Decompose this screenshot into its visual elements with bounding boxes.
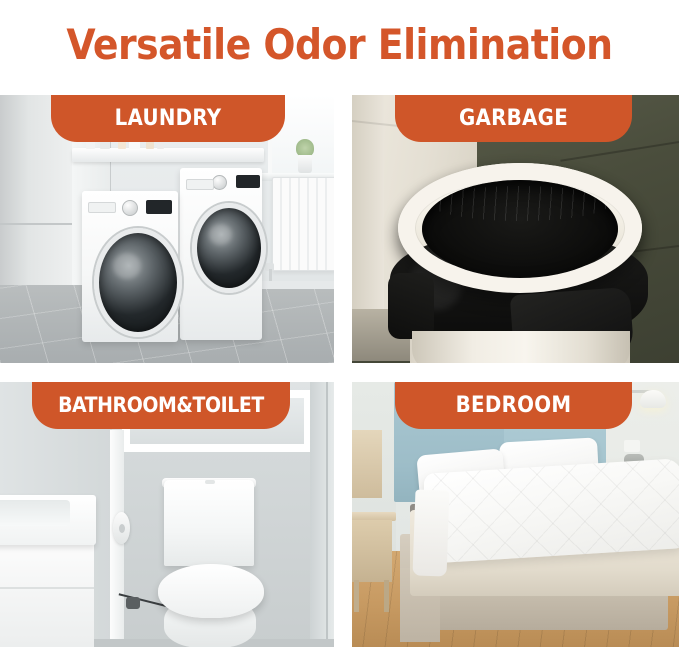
page-title: Versatile Odor Elimination	[0, 0, 679, 90]
panel-grid: LAUNDRY GARBAGE	[0, 95, 679, 647]
badge-bedroom-label: BEDROOM	[456, 395, 572, 417]
badge-garbage: GARBAGE	[395, 95, 632, 142]
badge-laundry-label: LAUNDRY	[115, 108, 222, 130]
badge-garbage-label: GARBAGE	[459, 108, 568, 130]
badge-bathroom-toilet-label: BATHROOM&TOILET	[58, 395, 264, 416]
badge-laundry: LAUNDRY	[51, 95, 285, 142]
badge-bedroom: BEDROOM	[395, 382, 632, 429]
panel-garbage[interactable]: GARBAGE	[352, 95, 679, 363]
panel-laundry[interactable]: LAUNDRY	[0, 95, 334, 363]
panel-bathroom-toilet[interactable]: BATHROOM&TOILET	[0, 382, 334, 647]
panel-bedroom[interactable]: BEDROOM	[352, 382, 679, 647]
badge-bathroom-toilet: BATHROOM&TOILET	[32, 382, 290, 429]
